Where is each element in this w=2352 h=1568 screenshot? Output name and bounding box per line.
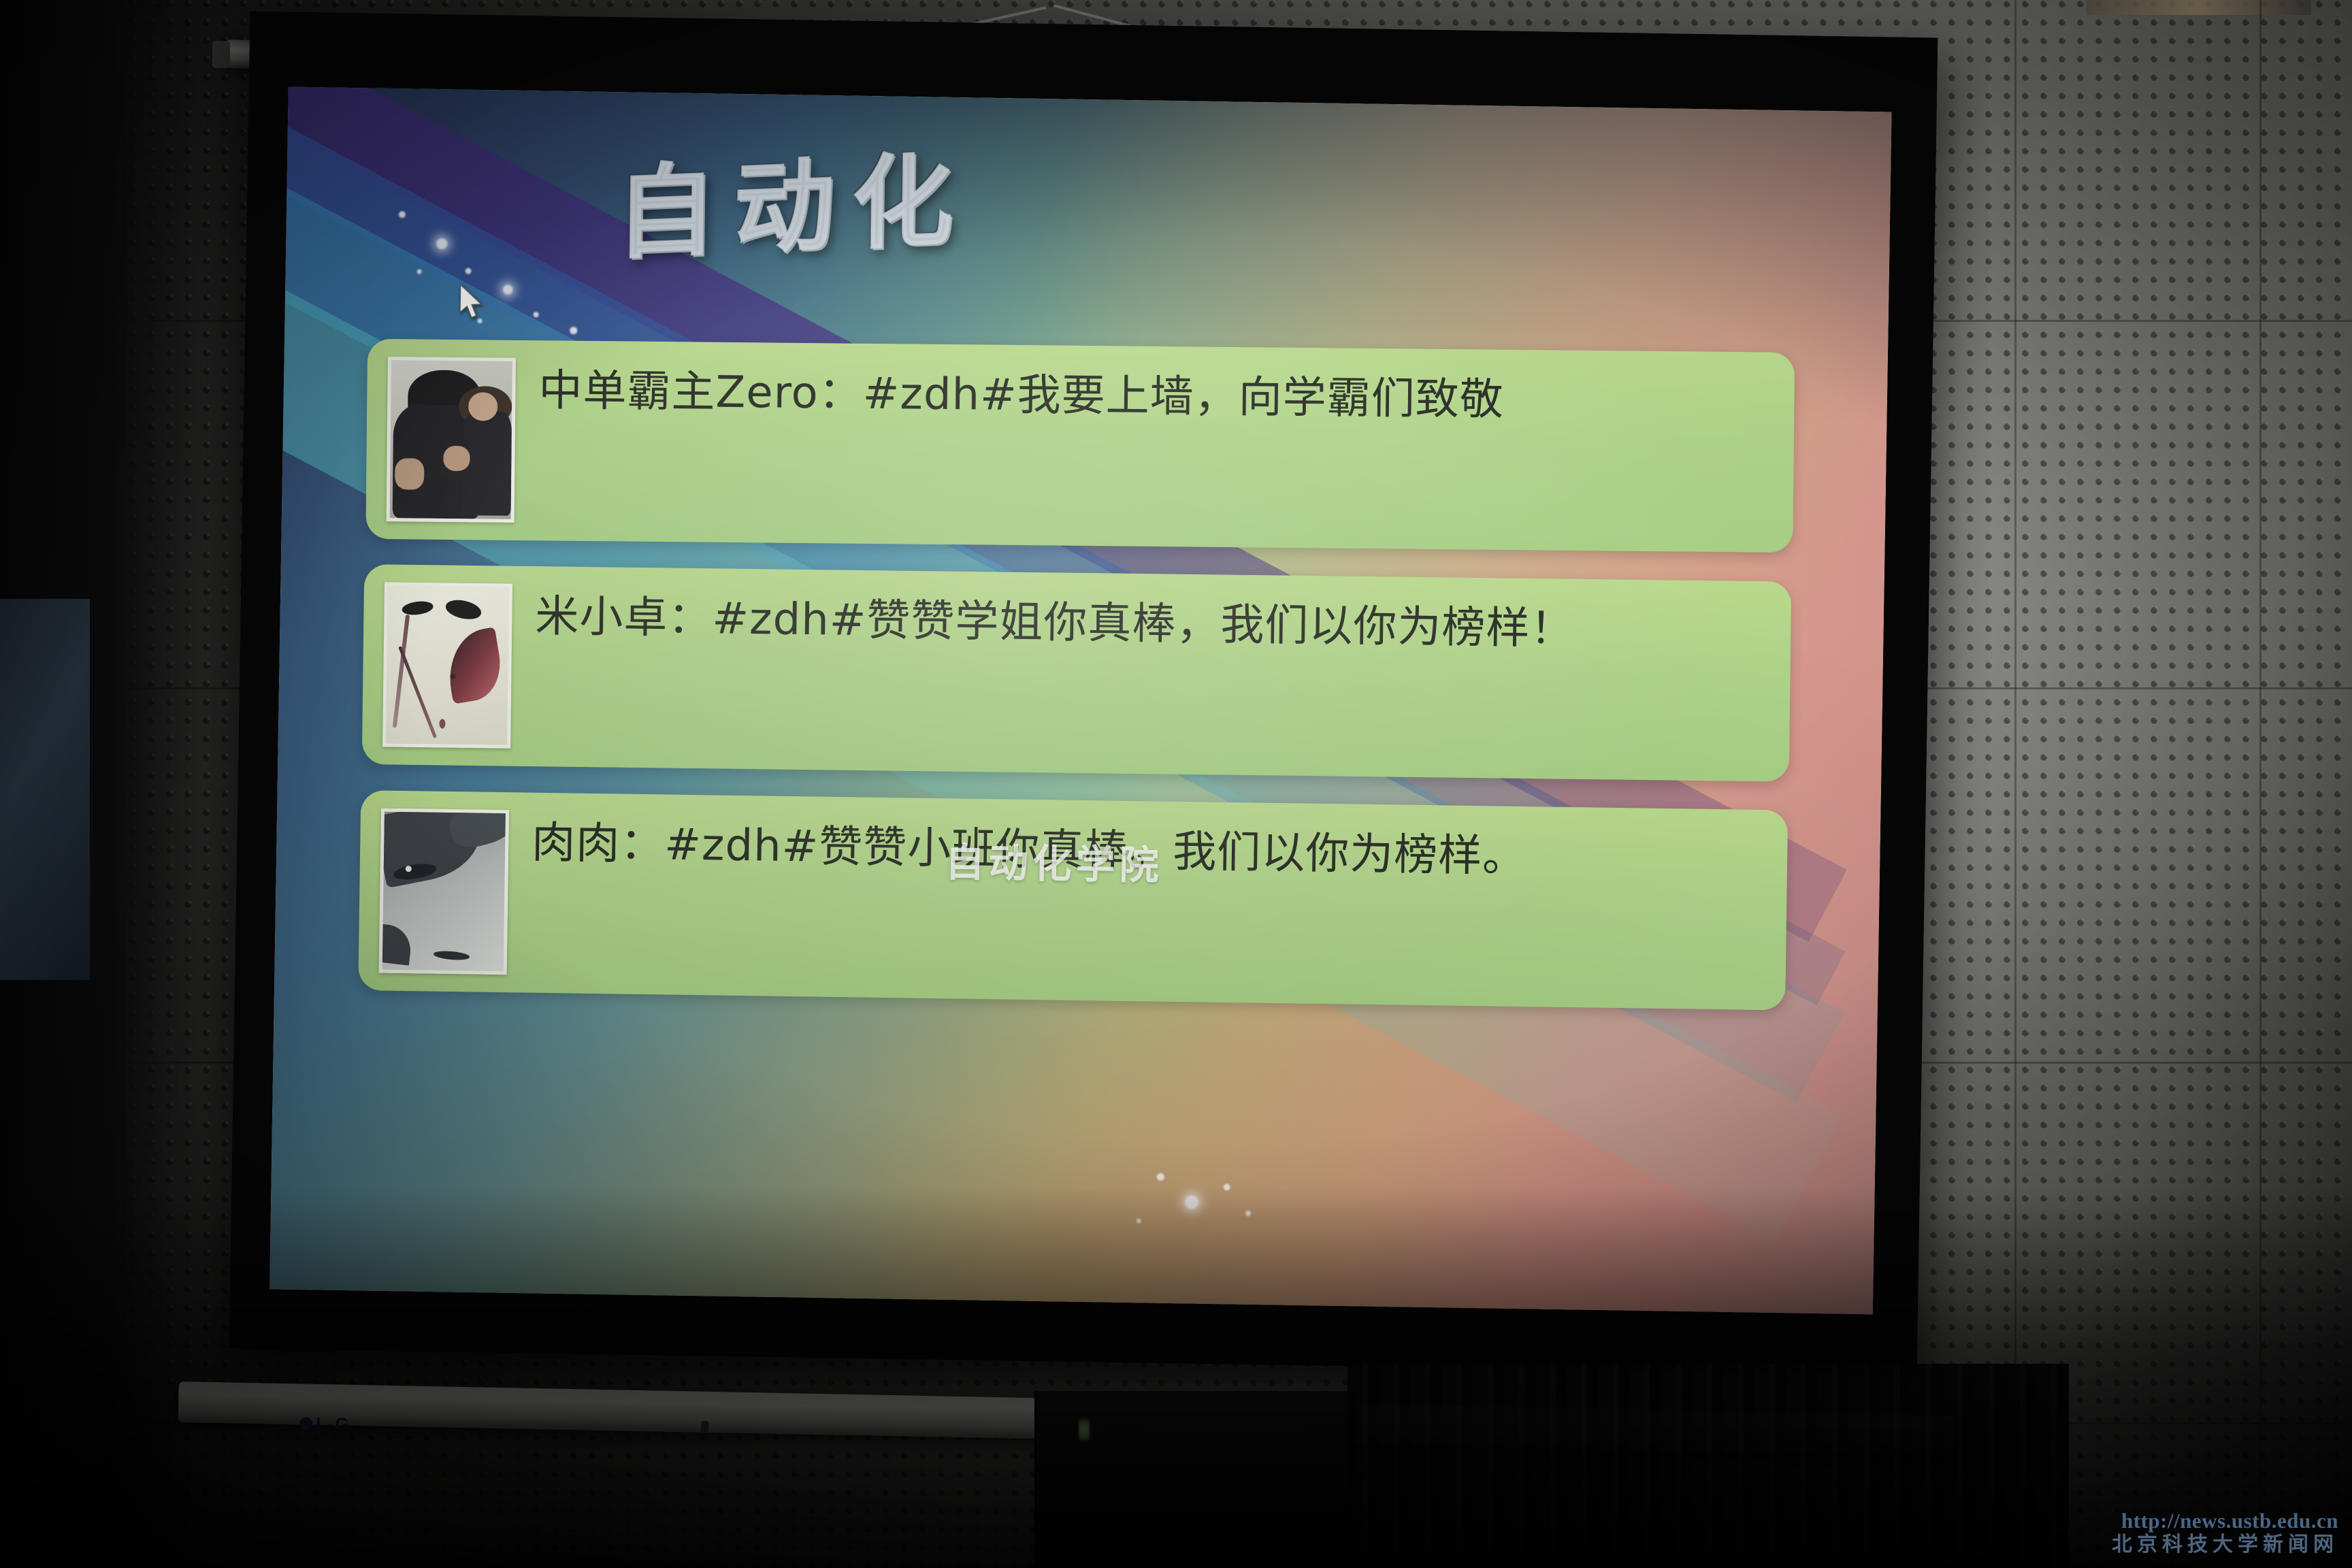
- news-site-watermark: http://news.ustb.edu.cn 北京科技大学新闻网: [2112, 1509, 2338, 1557]
- avatar: [386, 357, 515, 523]
- news-site-name: 北京科技大学新闻网: [2112, 1533, 2338, 1557]
- avatar: [378, 808, 508, 975]
- slide-title: 自动化: [615, 118, 971, 278]
- comment-text: 中单霸主Zero：#zdh#我要上墙，向学霸们致敬: [538, 358, 1767, 436]
- comment-card[interactable]: 米小卓：#zdh#赞赞学姐你真棒，我们以你为榜样！: [361, 564, 1791, 782]
- foreground-shadow: [0, 1187, 2352, 1568]
- avatar: [382, 583, 512, 749]
- comment-card[interactable]: 肉肉：#zdh#赞赞小班你真棒。我们以你为榜样。 自动化学院: [358, 790, 1788, 1010]
- projection-screen: 自动化 中单霸主Zero：#zdh#我要上墙，: [229, 12, 1938, 1375]
- roller-end-cap: [212, 41, 230, 68]
- comment-text: 肉肉：#zdh#赞赞小班你真棒。我们以你为榜样。: [531, 811, 1760, 894]
- window-frame-left: [0, 599, 93, 980]
- comment-text: 米小卓：#zdh#赞赞学姐你真棒，我们以你为榜样！: [534, 584, 1763, 665]
- screen-surface: 自动化 中单霸主Zero：#zdh#我要上墙，: [269, 87, 1891, 1315]
- comment-card[interactable]: 中单霸主Zero：#zdh#我要上墙，向学霸们致敬: [365, 339, 1795, 553]
- ceiling-strip: [2087, 0, 2311, 15]
- news-site-url: http://news.ustb.edu.cn: [2112, 1509, 2338, 1533]
- comment-card-list: 中单霸主Zero：#zdh#我要上墙，向学霸们致敬 米小卓：#zdh#赞赞学姐你…: [357, 335, 1795, 1039]
- projected-slide: 自动化 中单霸主Zero：#zdh#我要上墙，: [269, 87, 1891, 1315]
- photograph-of-projection-screen: 自动化 中单霸主Zero：#zdh#我要上墙，: [0, 0, 2352, 1568]
